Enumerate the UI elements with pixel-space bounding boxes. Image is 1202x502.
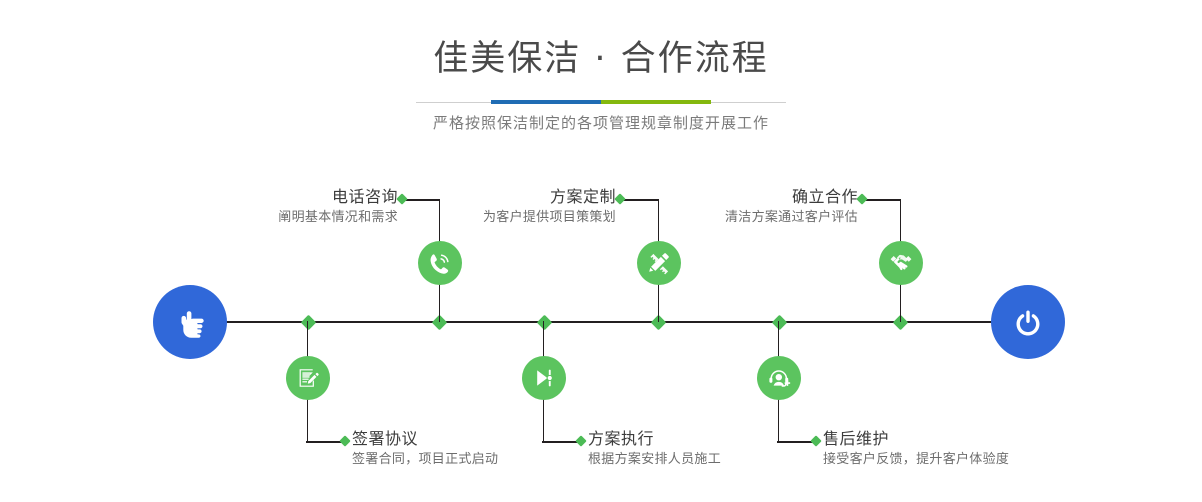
pointing-hand-icon — [170, 302, 210, 342]
page-title: 佳美保洁 · 合作流程 — [0, 38, 1202, 80]
axis-marker-diamond — [772, 314, 788, 330]
power-button-icon — [1008, 302, 1048, 342]
step-desc-3: 为客户提供项目策策划 — [368, 208, 616, 228]
step-desc-4: 根据方案安排人员施工 — [588, 450, 721, 470]
step-desc-1: 阐明基本情况和需求 — [150, 208, 398, 228]
handshake-icon — [888, 250, 914, 276]
step-title-1: 电话咨询 — [150, 186, 398, 208]
step-desc-6: 接受客户反馈，提升客户体验度 — [823, 450, 1009, 470]
step-node-6[interactable] — [757, 356, 801, 400]
play-execute-icon — [531, 365, 557, 391]
step-title-2: 签署协议 — [352, 428, 498, 450]
label-marker-step-4 — [575, 435, 586, 446]
pencil-ruler-icon — [646, 250, 672, 276]
divider-segment-blue — [491, 100, 601, 104]
label-marker-step-2 — [339, 435, 350, 446]
step-node-5[interactable] — [879, 241, 923, 285]
timeline-start-marker — [153, 285, 227, 359]
process-flow-infographic: 佳美保洁 · 合作流程 严格按照保洁制定的各项管理规章制度开展工作 — [0, 0, 1202, 502]
step-desc-2: 签署合同，项目正式启动 — [352, 450, 498, 470]
phone-call-icon — [427, 250, 453, 276]
step-label-4: 方案执行 根据方案安排人员施工 — [588, 428, 721, 470]
header: 佳美保洁 · 合作流程 严格按照保洁制定的各项管理规章制度开展工作 — [0, 0, 1202, 133]
axis-marker-diamond — [537, 314, 553, 330]
divider-segment-green — [601, 100, 711, 104]
step-desc-5: 清洁方案通过客户评估 — [610, 208, 858, 228]
step-title-6: 售后维护 — [823, 428, 1009, 450]
customer-service-add-icon — [766, 365, 792, 391]
connector-horizontal-step-5 — [864, 199, 901, 201]
label-marker-step-6 — [810, 435, 821, 446]
label-marker-step-5 — [856, 193, 867, 204]
step-title-5: 确立合作 — [610, 186, 858, 208]
step-label-3: 方案定制 为客户提供项目策策划 — [368, 186, 616, 228]
step-label-6: 售后维护 接受客户反馈，提升客户体验度 — [823, 428, 1009, 470]
page-subtitle: 严格按照保洁制定的各项管理规章制度开展工作 — [0, 113, 1202, 133]
connector-horizontal-step-6 — [777, 441, 815, 443]
step-label-1: 电话咨询 阐明基本情况和需求 — [150, 186, 398, 228]
step-label-2: 签署协议 签署合同，项目正式启动 — [352, 428, 498, 470]
step-title-4: 方案执行 — [588, 428, 721, 450]
title-divider — [416, 100, 786, 104]
step-label-5: 确立合作 清洁方案通过客户评估 — [610, 186, 858, 228]
step-node-4[interactable] — [522, 356, 566, 400]
connector-horizontal-step-2 — [306, 441, 344, 443]
document-sign-icon — [295, 365, 321, 391]
step-node-2[interactable] — [286, 356, 330, 400]
step-title-3: 方案定制 — [368, 186, 616, 208]
timeline-end-marker — [991, 285, 1065, 359]
step-node-1[interactable] — [418, 241, 462, 285]
axis-marker-diamond — [301, 314, 317, 330]
connector-horizontal-step-4 — [542, 441, 580, 443]
step-node-3[interactable] — [637, 241, 681, 285]
